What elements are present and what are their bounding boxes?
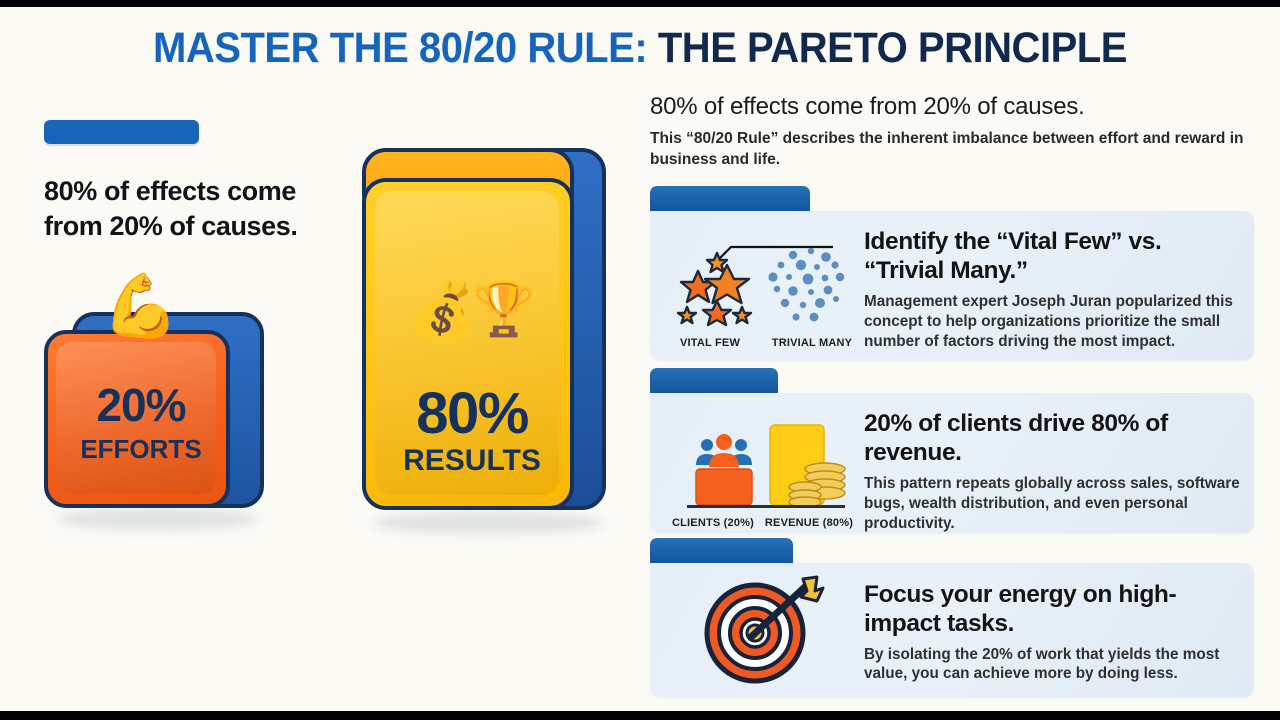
caption-trivial-many: TRIVIAL MANY xyxy=(767,337,857,349)
results-block-front-face: 💰🏆 80% RESULTS xyxy=(362,178,574,510)
clients-revenue-visual: CLIENTS (20%) REVENUE (80%) xyxy=(662,405,860,529)
accent-bar xyxy=(44,120,199,144)
flexed-biceps-icon: 💪 xyxy=(102,276,179,338)
page-title: MASTER THE 80/20 RULE: THE PARETO PRINCI… xyxy=(45,24,1235,73)
efforts-percent: 20% xyxy=(48,378,234,432)
card-2-text: This pattern repeats globally across sal… xyxy=(864,474,1240,534)
card-body-2: CLIENTS (20%) REVENUE (80%) 20% of clien… xyxy=(650,393,1254,533)
intro-subtext: This “80/20 Rule” describes the inherent… xyxy=(650,129,1254,170)
trophy-icon: 🏆 xyxy=(472,281,537,339)
caption-revenue: REVENUE (80%) xyxy=(764,517,854,529)
card-3-heading: Focus your energy on high-impact tasks. xyxy=(864,580,1240,639)
intro-block: 80% of effects come from 20% of causes. … xyxy=(650,92,1254,170)
infographic-canvas: MASTER THE 80/20 RULE: THE PARETO PRINCI… xyxy=(0,0,1280,720)
efforts-block-front-face: 20% EFFORTS xyxy=(44,330,230,508)
results-percent: 80% xyxy=(366,380,578,447)
card-tab-1 xyxy=(650,186,810,211)
money-bag-icon: 💰 xyxy=(408,279,480,344)
results-label: RESULTS xyxy=(366,444,578,478)
card-1-captions: VITAL FEW TRIVIAL MANY xyxy=(665,337,857,349)
card-3-text-block: Focus your energy on high-impact tasks. … xyxy=(860,576,1240,685)
efforts-label: EFFORTS xyxy=(48,434,234,465)
card-focus-energy[interactable]: Focus your energy on high-impact tasks. … xyxy=(650,538,1254,697)
card-1-heading: Identify the “Vital Few” vs. “Trivial Ma… xyxy=(864,227,1240,286)
card-2-captions: CLIENTS (20%) REVENUE (80%) xyxy=(668,517,854,529)
card-body-3: Focus your energy on high-impact tasks. … xyxy=(650,563,1254,697)
results-block: 💰🏆 80% RESULTS xyxy=(362,148,612,516)
card-body-1: VITAL FEW TRIVIAL MANY Identify the “Vit… xyxy=(650,211,1254,360)
intro-heading: 80% of effects come from 20% of causes. xyxy=(650,92,1254,122)
clients-revenue-bar-chart-icon xyxy=(665,411,857,515)
card-vital-few[interactable]: VITAL FEW TRIVIAL MANY Identify the “Vit… xyxy=(650,186,1254,360)
stars-and-dots-diagram-icon xyxy=(665,229,857,335)
card-1-text: Management expert Joseph Juran populariz… xyxy=(864,292,1240,352)
target-with-arrow-icon xyxy=(691,571,831,689)
card-3-text: By isolating the 20% of work that yields… xyxy=(864,645,1240,685)
page-title-part-2: THE PARETO PRINCIPLE xyxy=(647,24,1127,72)
people-group-icon xyxy=(696,434,752,467)
card-2-text-block: 20% of clients drive 80% of revenue. Thi… xyxy=(860,405,1240,533)
card-tab-2 xyxy=(650,368,778,393)
card-1-text-block: Identify the “Vital Few” vs. “Trivial Ma… xyxy=(860,223,1240,351)
left-column: 80% of effects come from 20% of causes. xyxy=(44,120,314,243)
card-tab-3 xyxy=(650,538,793,563)
efforts-block: 💪 20% EFFORTS xyxy=(44,312,266,512)
results-icon-row: 💰🏆 xyxy=(366,278,578,346)
caption-clients: CLIENTS (20%) xyxy=(668,517,758,529)
card-clients-revenue[interactable]: CLIENTS (20%) REVENUE (80%) 20% of clien… xyxy=(650,368,1254,533)
target-visual xyxy=(662,571,860,689)
letterbox-bottom xyxy=(0,711,1280,720)
left-column-heading: 80% of effects come from 20% of causes. xyxy=(44,174,314,243)
stars-vs-dots-visual: VITAL FEW TRIVIAL MANY xyxy=(662,223,860,349)
letterbox-top xyxy=(0,0,1280,7)
caption-vital-few: VITAL FEW xyxy=(665,337,755,349)
page-title-part-1: MASTER THE 80/20 RULE: xyxy=(153,24,647,72)
card-2-heading: 20% of clients drive 80% of revenue. xyxy=(864,409,1240,468)
